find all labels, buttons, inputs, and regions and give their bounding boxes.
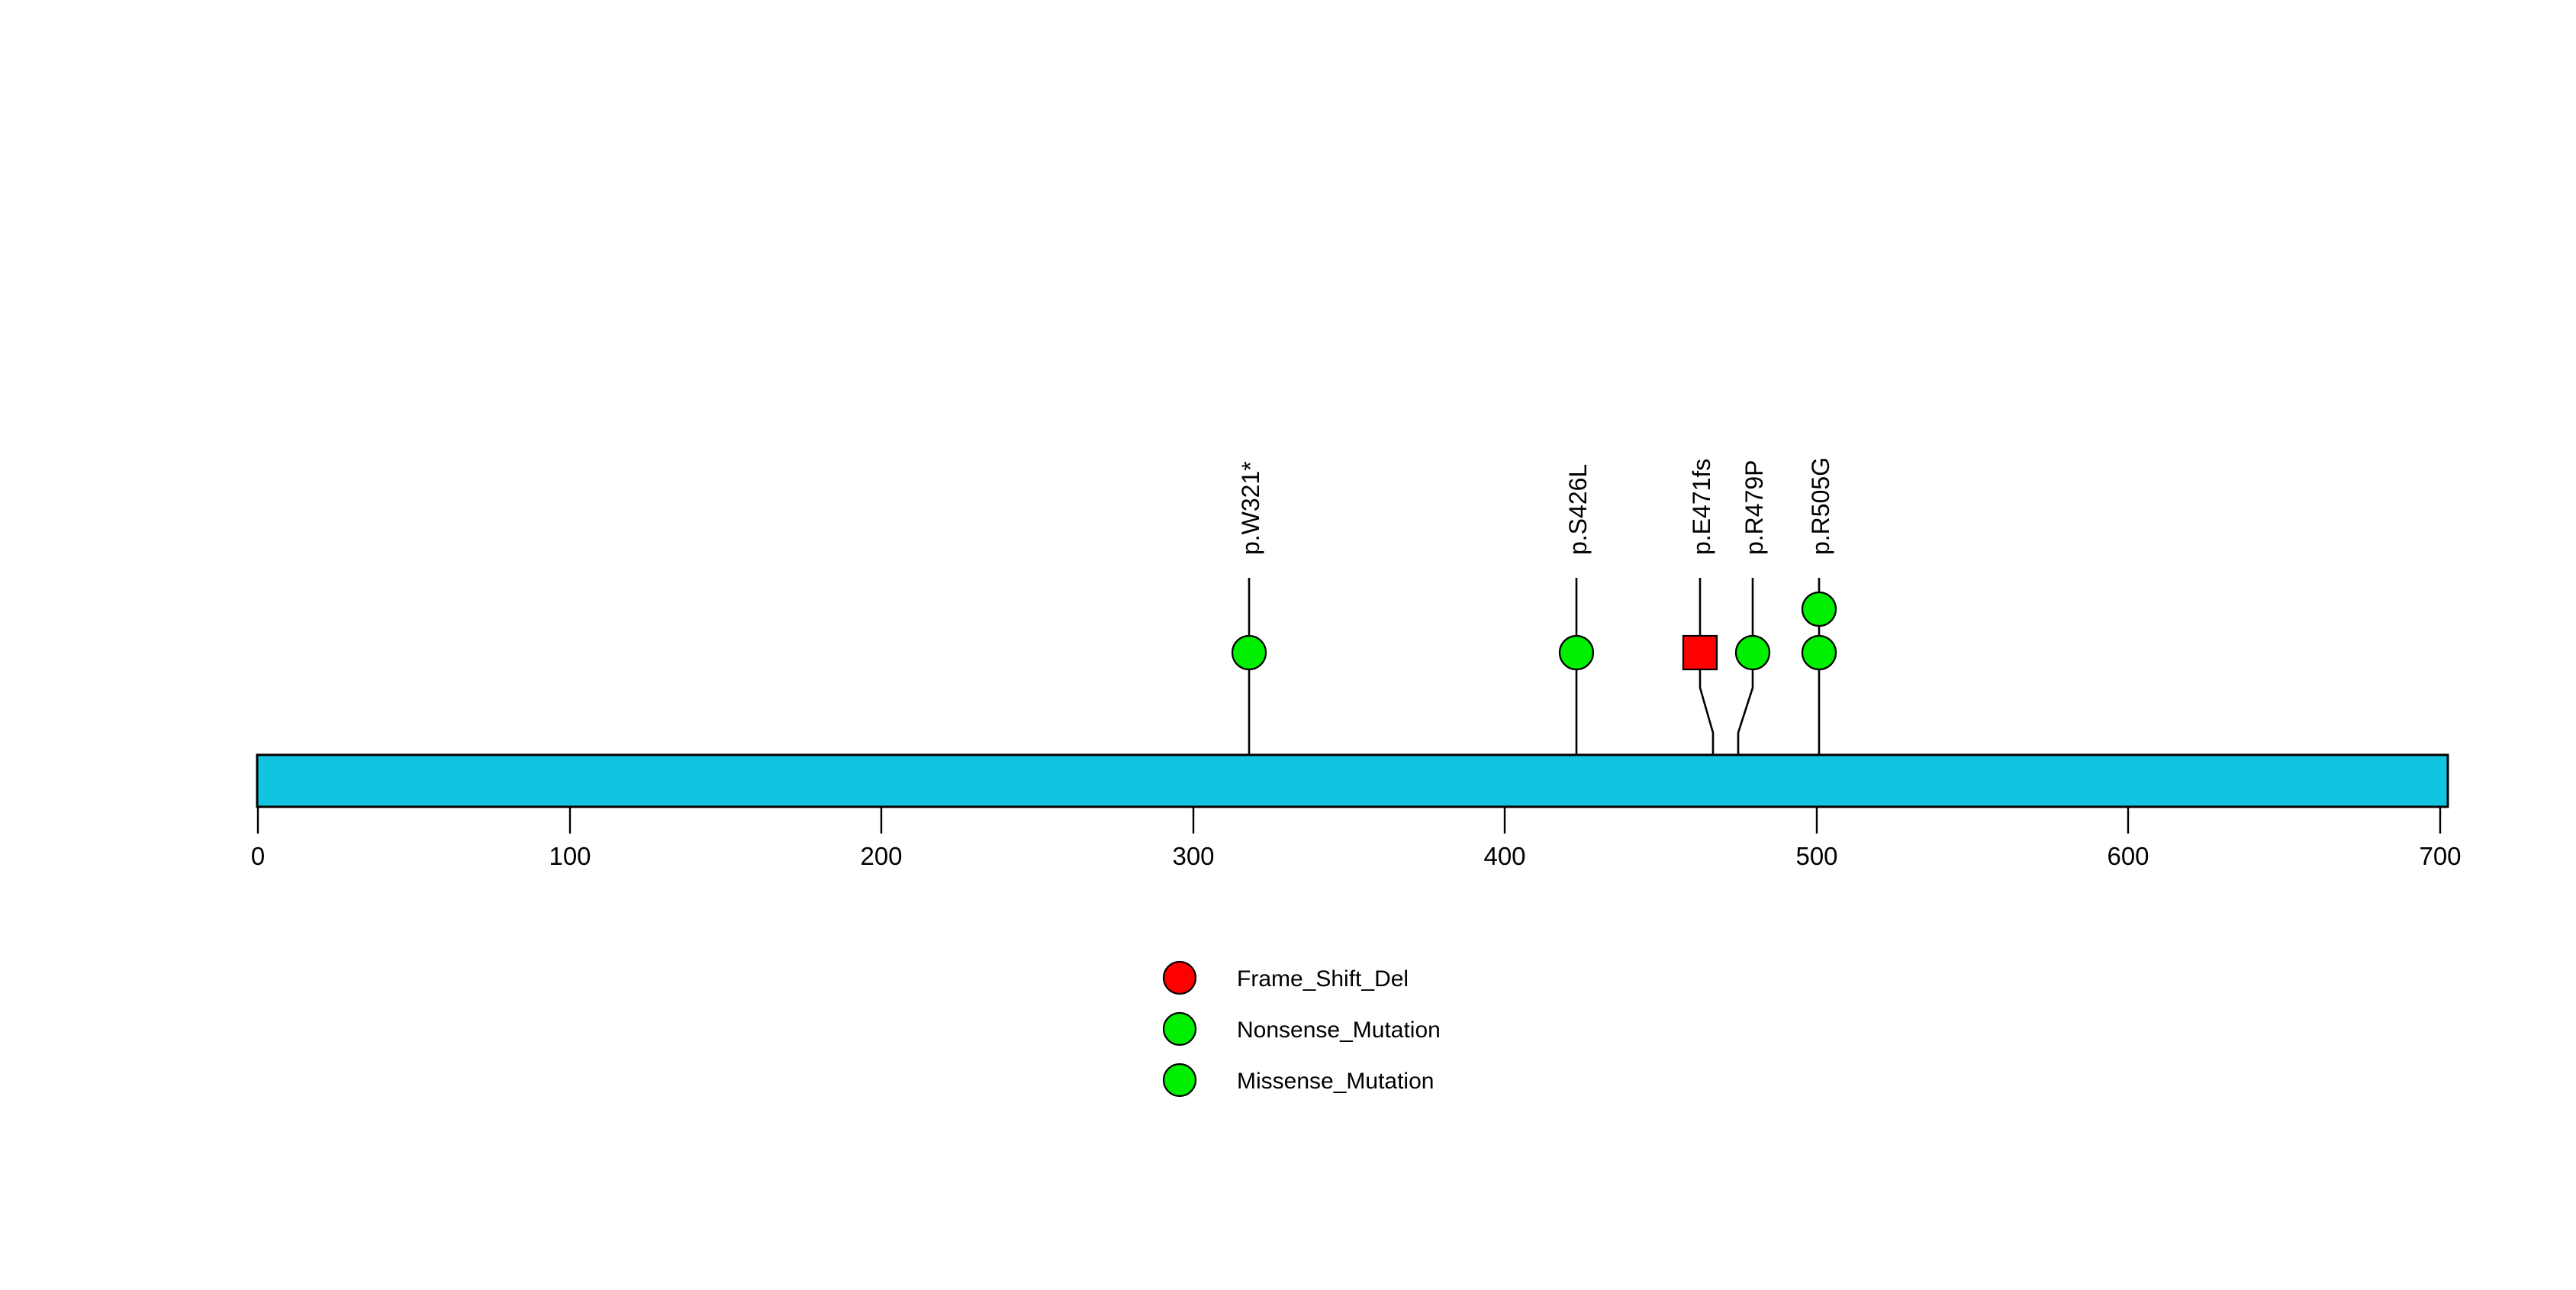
lollipop-marker-group: [1232, 592, 1836, 669]
mutation-label-group: p.W321* p.S426L p.E471fs p.R479P p.R505G: [1237, 457, 1834, 555]
lollipop-marker-p-r505g-2[interactable]: [1802, 592, 1836, 626]
legend: Frame_Shift_Del Nonsense_Mutation Missen…: [1164, 962, 1441, 1096]
legend-item-frame-shift-del[interactable]: Frame_Shift_Del: [1164, 962, 1409, 994]
lollipop-marker-p-r505g-1[interactable]: [1802, 636, 1836, 669]
lollipop-plot-canvas: 0 100 200 300 400 500 600 700 p.W321*: [0, 0, 2576, 1290]
mutation-label-p-w321x: p.W321*: [1237, 461, 1264, 555]
axis-tick-label-700: 700: [2419, 842, 2461, 870]
mutation-label-p-r505g: p.R505G: [1807, 457, 1834, 555]
axis-tick-label-600: 600: [2107, 842, 2149, 870]
axis-tick-label-0: 0: [251, 842, 265, 870]
axis-tick-label-200: 200: [860, 842, 902, 870]
protein-domain-bar[interactable]: [257, 755, 2448, 807]
legend-swatch-nonsense-mutation: [1164, 1013, 1196, 1045]
axis-tick-label-400: 400: [1483, 842, 1525, 870]
axis-tick-label-group: 0 100 200 300 400 500 600 700: [251, 842, 2462, 870]
mutation-label-p-s426l: p.S426L: [1564, 464, 1592, 555]
lollipop-marker-p-w321x[interactable]: [1232, 636, 1266, 669]
legend-swatch-missense-mutation: [1164, 1064, 1196, 1096]
legend-label-frame-shift-del: Frame_Shift_Del: [1237, 966, 1409, 992]
lollipop-marker-p-s426l[interactable]: [1560, 636, 1593, 669]
mutation-label-p-r479p: p.R479P: [1740, 460, 1768, 555]
mutation-label-p-e471fs: p.E471fs: [1688, 459, 1715, 555]
axis-tick-label-300: 300: [1172, 842, 1214, 870]
legend-item-nonsense-mutation[interactable]: Nonsense_Mutation: [1164, 1013, 1441, 1045]
axis-tick-label-500: 500: [1795, 842, 1837, 870]
legend-item-missense-mutation[interactable]: Missense_Mutation: [1164, 1064, 1434, 1096]
legend-label-nonsense-mutation: Nonsense_Mutation: [1237, 1017, 1441, 1043]
axis-tick-group: [258, 807, 2440, 834]
lollipop-marker-p-e471fs[interactable]: [1683, 636, 1717, 669]
legend-swatch-frame-shift-del: [1164, 962, 1196, 994]
legend-label-missense-mutation: Missense_Mutation: [1237, 1069, 1434, 1094]
lollipop-marker-p-r479p[interactable]: [1736, 636, 1769, 669]
lollipop-plot-svg: 0 100 200 300 400 500 600 700 p.W321*: [0, 0, 2576, 1290]
axis-tick-label-100: 100: [549, 842, 591, 870]
